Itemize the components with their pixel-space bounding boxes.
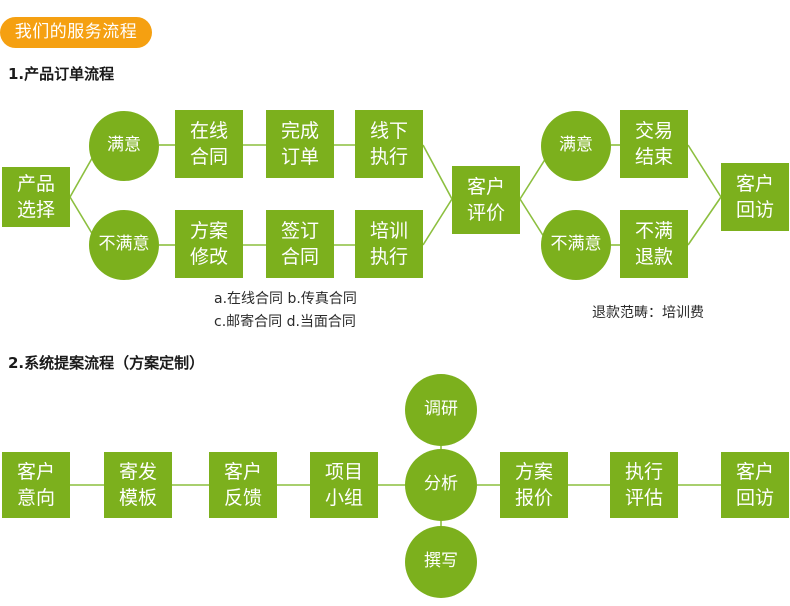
node-label-line1: 项目	[325, 459, 363, 485]
node-label-line1: 客户	[224, 459, 262, 485]
node-label-line2: 修改	[190, 244, 228, 270]
node-label-line2: 执行	[370, 244, 408, 270]
node-label-line2: 小组	[325, 485, 363, 511]
node-label-line2: 报价	[515, 485, 553, 511]
node-unsatisfied-1[interactable]: 不满意	[89, 210, 159, 280]
node-send-template[interactable]: 寄发模板	[104, 452, 172, 518]
connector-deal-end-to-customer-revisit-1	[688, 145, 721, 197]
node-label-line2: 退款	[635, 244, 673, 270]
node-label-line1: 产品	[17, 171, 55, 197]
node-label-line2: 订单	[281, 144, 319, 170]
node-plan-quote[interactable]: 方案报价	[500, 452, 568, 518]
node-label-line1: 方案	[190, 218, 228, 244]
node-label-line2: 结束	[635, 144, 673, 170]
node-label-line2: 合同	[190, 144, 228, 170]
node-label-line1: 客户	[17, 459, 55, 485]
node-deal-end[interactable]: 交易结束	[620, 110, 688, 178]
node-label-line1: 分析	[424, 473, 458, 496]
node-label-line1: 满意	[107, 134, 141, 157]
node-plan-revise[interactable]: 方案修改	[175, 210, 243, 278]
node-sign-contract[interactable]: 签订合同	[266, 210, 334, 278]
node-label-line1: 培训	[370, 218, 408, 244]
node-label-line1: 执行	[625, 459, 663, 485]
node-label-line1: 线下	[370, 118, 408, 144]
node-label-line1: 撰写	[424, 550, 458, 573]
node-research[interactable]: 调研	[405, 374, 477, 446]
node-label-line1: 在线	[190, 118, 228, 144]
contract-types-caption-line1: a.在线合同 b.传真合同	[214, 289, 357, 310]
node-label-line1: 客户	[467, 174, 505, 200]
node-satisfied-2[interactable]: 满意	[541, 111, 611, 181]
node-customer-revisit-1[interactable]: 客户回访	[721, 163, 789, 231]
node-label-line1: 寄发	[119, 459, 157, 485]
section-1-heading: 1.产品订单流程	[8, 63, 114, 84]
node-online-contract[interactable]: 在线合同	[175, 110, 243, 178]
node-customer-revisit-2[interactable]: 客户回访	[721, 452, 789, 518]
node-refund[interactable]: 不满退款	[620, 210, 688, 278]
node-customer-intent[interactable]: 客户意向	[2, 452, 70, 518]
node-label-line2: 反馈	[224, 485, 262, 511]
node-label-line1: 客户	[736, 459, 774, 485]
node-label-line2: 模板	[119, 485, 157, 511]
node-label-line2: 执行	[370, 144, 408, 170]
node-label-line1: 签订	[281, 218, 319, 244]
node-satisfied-1[interactable]: 满意	[89, 111, 159, 181]
node-unsatisfied-2[interactable]: 不满意	[541, 210, 611, 280]
node-complete-order[interactable]: 完成订单	[266, 110, 334, 178]
section-2-heading: 2.系统提案流程（方案定制）	[8, 352, 204, 373]
node-product-select[interactable]: 产品选择	[2, 167, 70, 227]
node-exec-eval[interactable]: 执行评估	[610, 452, 678, 518]
node-customer-review[interactable]: 客户评价	[452, 166, 520, 234]
page-title-badge: 我们的服务流程	[0, 17, 152, 48]
connector-refund-to-customer-revisit-1	[688, 197, 721, 245]
contract-types-caption-line2: c.邮寄合同 d.当面合同	[214, 312, 356, 333]
node-label-line1: 交易	[635, 118, 673, 144]
node-label-line2: 回访	[736, 197, 774, 223]
flowchart-page: 我们的服务流程 1.产品订单流程 2.系统提案流程（方案定制） 产品选择满意不满…	[0, 0, 790, 606]
node-label-line1: 调研	[424, 398, 458, 421]
node-label-line2: 回访	[736, 485, 774, 511]
node-label-line1: 不满	[635, 218, 673, 244]
node-label-line1: 满意	[559, 134, 593, 157]
node-label-line1: 完成	[281, 118, 319, 144]
refund-scope-caption: 退款范畴：培训费	[592, 303, 704, 324]
node-project-team[interactable]: 项目小组	[310, 452, 378, 518]
node-label-line2: 评价	[467, 200, 505, 226]
node-label-line1: 不满意	[99, 233, 150, 256]
connector-training-exec-to-customer-review	[423, 199, 452, 245]
node-label-line2: 评估	[625, 485, 663, 511]
node-writing[interactable]: 撰写	[405, 526, 477, 598]
node-label-line2: 合同	[281, 244, 319, 270]
connector-offline-exec-to-customer-review	[423, 145, 452, 199]
node-customer-feedback[interactable]: 客户反馈	[209, 452, 277, 518]
node-offline-exec[interactable]: 线下执行	[355, 110, 423, 178]
node-label-line1: 客户	[736, 171, 774, 197]
node-training-exec[interactable]: 培训执行	[355, 210, 423, 278]
node-label-line1: 不满意	[551, 233, 602, 256]
node-label-line2: 选择	[17, 197, 55, 223]
node-analysis[interactable]: 分析	[405, 449, 477, 521]
node-label-line2: 意向	[17, 485, 55, 511]
node-label-line1: 方案	[515, 459, 553, 485]
